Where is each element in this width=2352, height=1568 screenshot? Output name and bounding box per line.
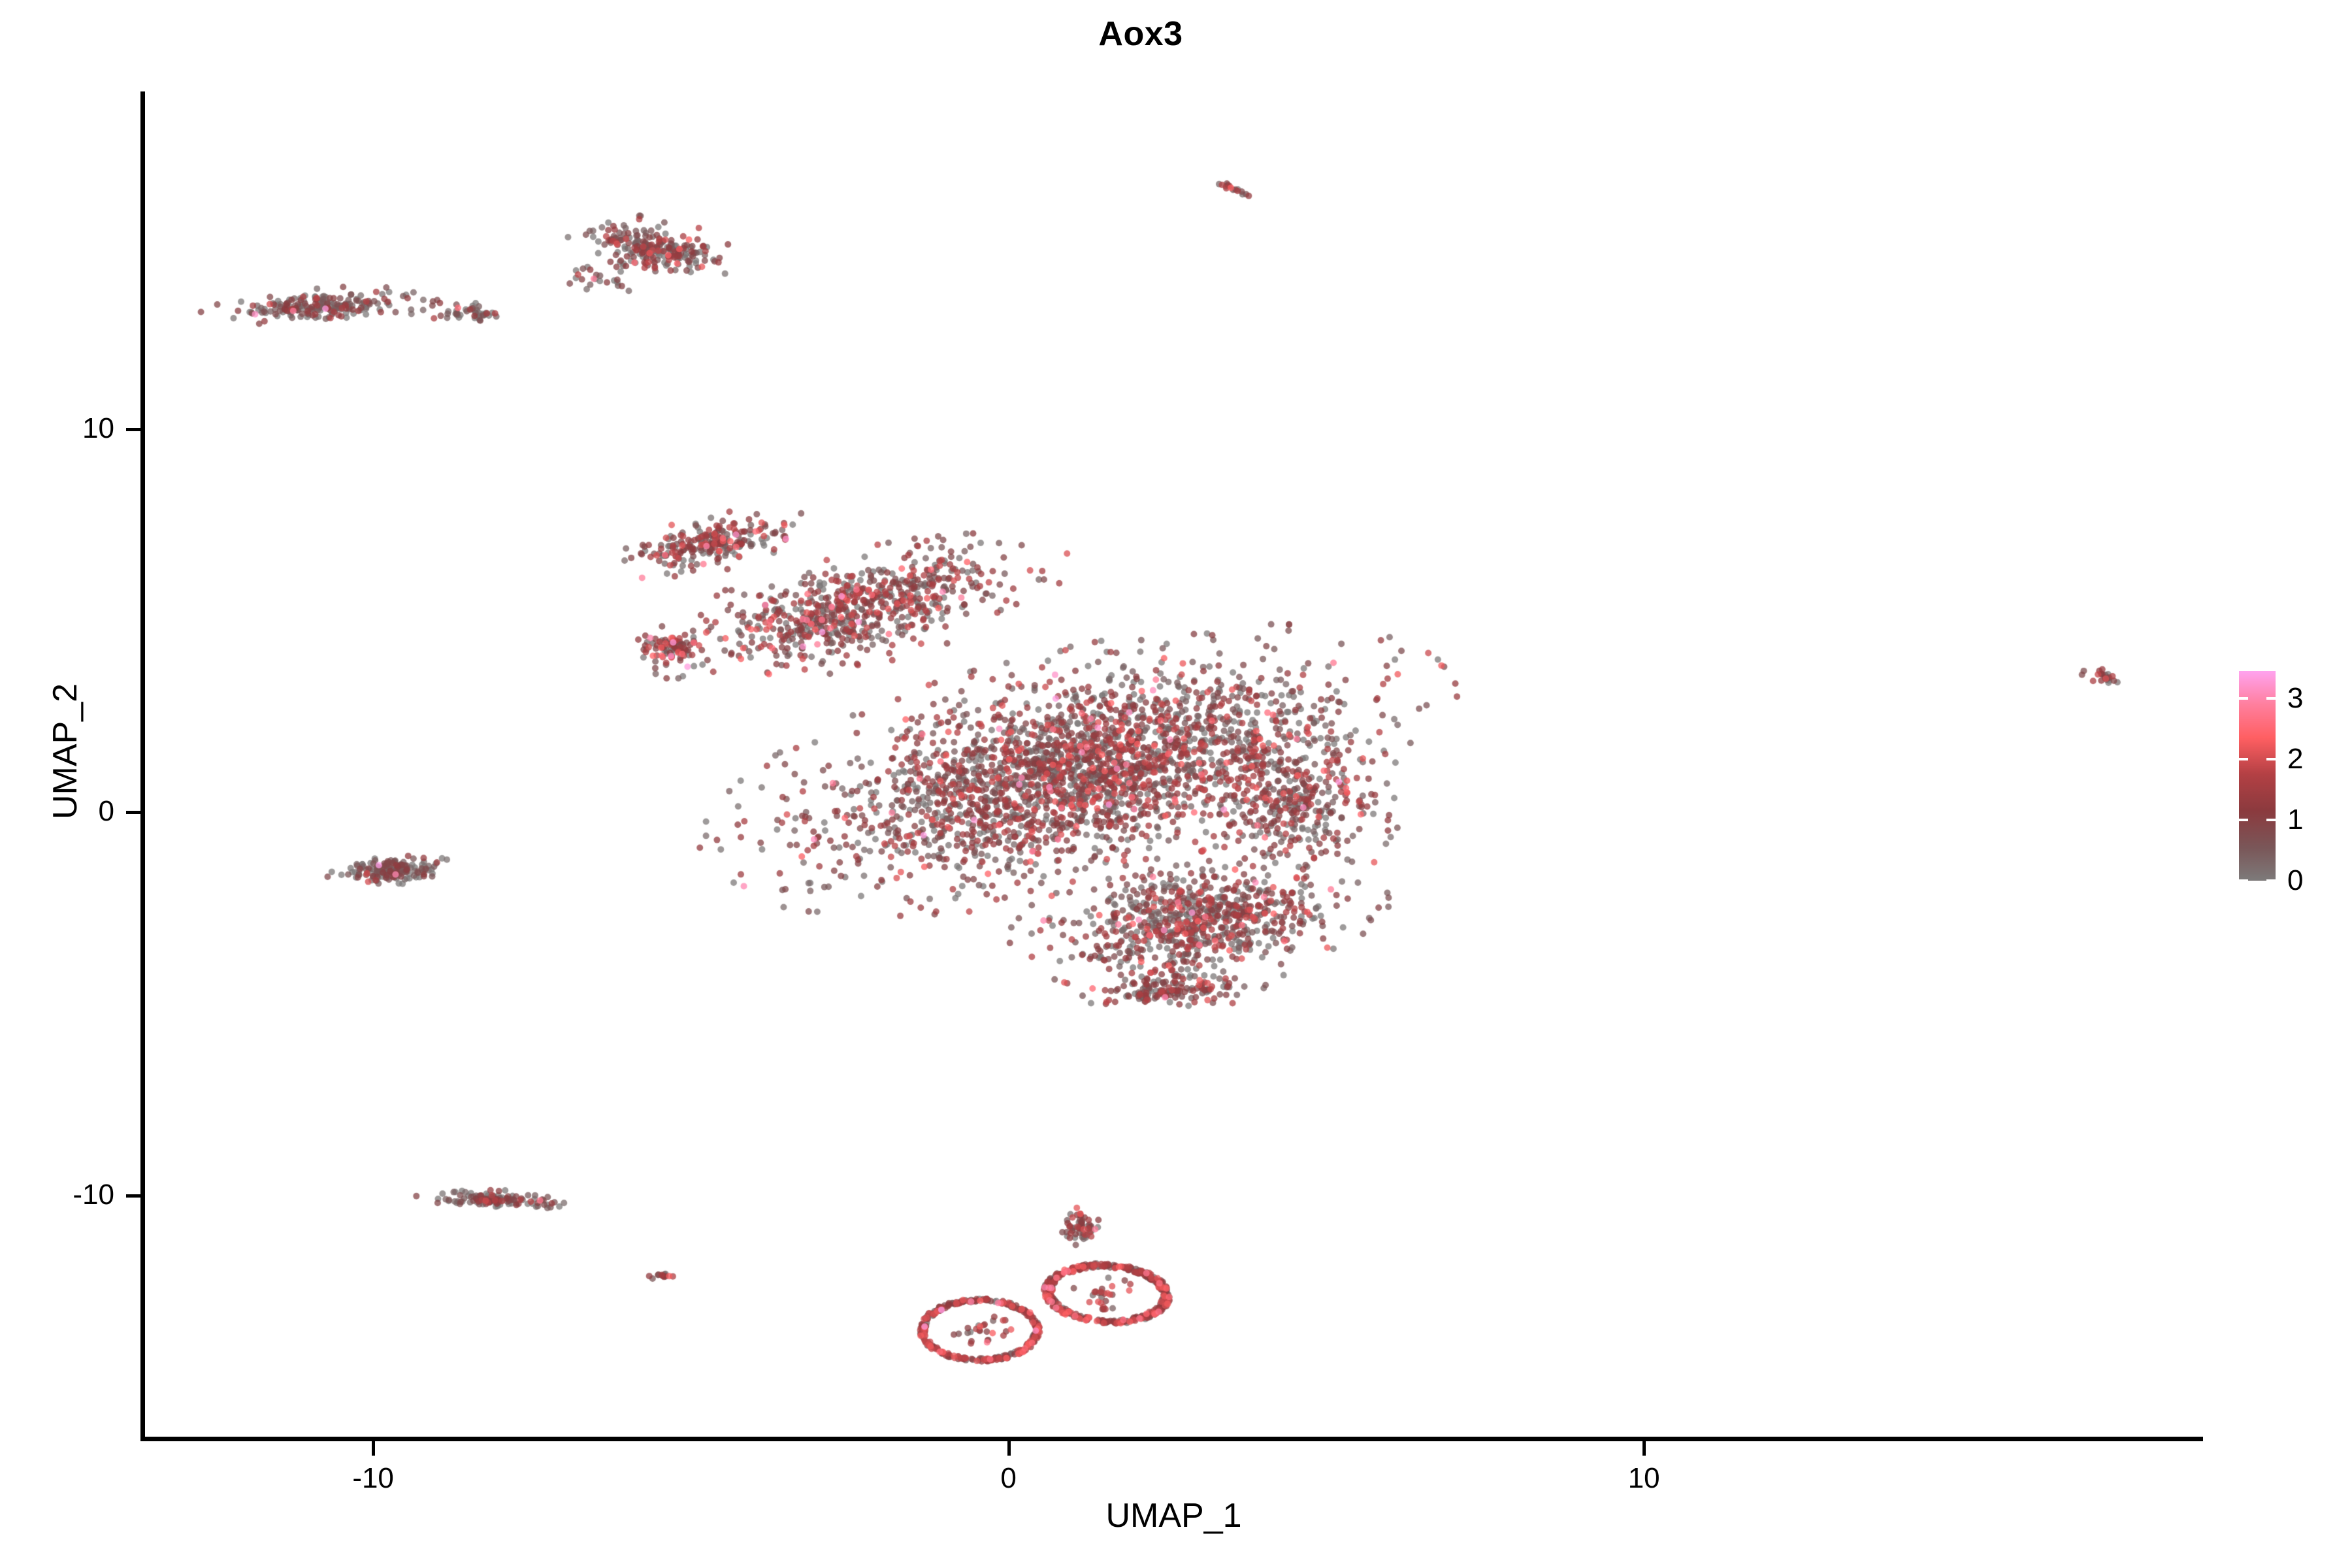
- y-tick-label: -10: [73, 1179, 114, 1211]
- y-tick-label: 10: [82, 412, 114, 445]
- colorbar-tick: [2266, 819, 2276, 821]
- colorbar-tick-label: 3: [2287, 684, 2303, 713]
- colorbar-tick: [2239, 758, 2248, 760]
- colorbar-tick-label: 1: [2287, 806, 2303, 834]
- colorbar-gradient: [2239, 671, 2276, 881]
- legend-colorbar: 0123: [2239, 671, 2276, 881]
- x-axis-line: [140, 1437, 2203, 1441]
- colorbar-tick-label: 0: [2287, 866, 2303, 895]
- colorbar-tick: [2266, 879, 2276, 882]
- x-tick-label: 0: [930, 1462, 1087, 1495]
- colorbar-tick: [2266, 758, 2276, 760]
- colorbar-tick: [2239, 697, 2248, 700]
- x-axis-title: UMAP_1: [144, 1496, 2203, 1535]
- colorbar-tick: [2239, 819, 2248, 821]
- y-tick-mark: [126, 428, 140, 431]
- scatter-points-layer: [144, 91, 2203, 1441]
- x-tick-label: 10: [1565, 1462, 1722, 1495]
- y-axis-line: [140, 91, 145, 1441]
- colorbar-tick: [2239, 879, 2248, 882]
- page-title: Aox3: [0, 14, 2317, 54]
- y-tick-label: 0: [99, 795, 114, 828]
- x-tick-mark: [1642, 1441, 1646, 1456]
- colorbar-tick: [2266, 697, 2276, 700]
- x-tick-mark: [1007, 1441, 1011, 1456]
- x-tick-mark: [372, 1441, 375, 1456]
- y-axis-title: UMAP_2: [46, 490, 85, 1013]
- colorbar-tick-label: 2: [2287, 745, 2303, 774]
- plot-panel: [144, 91, 2203, 1441]
- y-tick-mark: [126, 1194, 140, 1198]
- x-tick-label: -10: [295, 1462, 451, 1495]
- umap-feature-plot: Aox3 -10010 -10010 UMAP_1 UMAP_2 0123: [0, 0, 2352, 1568]
- y-tick-mark: [126, 811, 140, 814]
